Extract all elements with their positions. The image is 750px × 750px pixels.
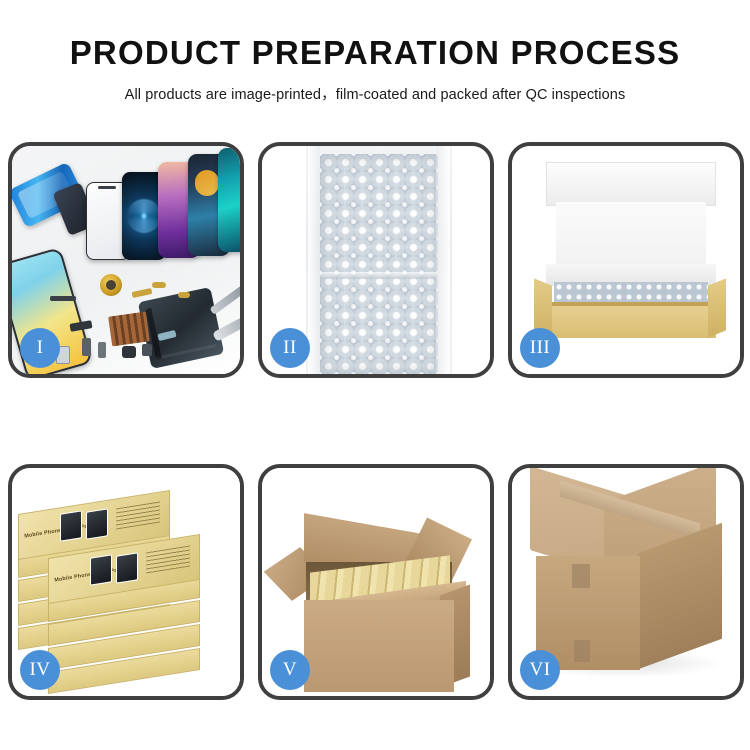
- part-gold-contact: [152, 282, 166, 288]
- step-2-image: II: [262, 146, 490, 374]
- part-camera-module: [122, 346, 136, 358]
- kraft-box-front: [546, 306, 716, 338]
- box-lid-back: [546, 162, 716, 206]
- step-panel-1: I: [8, 142, 244, 378]
- ocean-wallpaper-phone: [218, 148, 240, 252]
- step-badge-1: I: [20, 328, 60, 368]
- part-connector: [50, 296, 76, 301]
- part-button: [82, 338, 91, 356]
- part-gold-flex: [178, 292, 190, 298]
- step-badge-5: V: [270, 650, 310, 690]
- step-badge-3: III: [520, 328, 560, 368]
- step-3-image: III: [512, 146, 740, 374]
- step-badge-4: IV: [20, 650, 60, 690]
- bubble-wrap-texture: [320, 154, 438, 374]
- box-artwork-screen: [90, 554, 112, 585]
- step-badge-6: VI: [520, 650, 560, 690]
- logic-board: [138, 287, 225, 369]
- bubble-wrap-fold: [320, 272, 438, 279]
- tweezers-icon: [209, 285, 240, 315]
- step-panel-2: II: [258, 142, 494, 378]
- step-panel-4: Mobile Phone Spare Parts Mobile Phone Sp…: [8, 464, 244, 700]
- steps-grid: I II II: [8, 142, 742, 700]
- step-5-image: V: [262, 468, 490, 696]
- carton-bottom-tab: [574, 640, 590, 662]
- kraft-box-right-side: [708, 278, 726, 337]
- chip-array: [108, 312, 150, 347]
- page-subtitle: All products are image-printed，film-coat…: [0, 83, 750, 104]
- speaker-coil: [100, 274, 122, 296]
- part-sim-tray: [98, 342, 106, 358]
- step-panel-5: V: [258, 464, 494, 700]
- wrap-left-seam: [308, 146, 320, 374]
- infographic-page: PRODUCT PREPARATION PROCESS All products…: [0, 0, 750, 750]
- step-panel-6: VI: [508, 464, 744, 700]
- box-artwork-screen: [60, 510, 82, 541]
- step-badge-2: II: [270, 328, 310, 368]
- header: PRODUCT PREPARATION PROCESS All products…: [0, 0, 750, 104]
- part-flex-cable: [132, 288, 153, 298]
- box-artwork-screen: [86, 508, 108, 539]
- step-4-image: Mobile Phone Spare Parts Mobile Phone Sp…: [12, 468, 240, 696]
- carton-front-face: [304, 600, 454, 692]
- step-panel-3: III: [508, 142, 744, 378]
- wrap-right-seam: [436, 146, 450, 374]
- step-1-image: I: [12, 146, 240, 374]
- page-title: PRODUCT PREPARATION PROCESS: [0, 36, 750, 71]
- part-speaker: [142, 344, 152, 356]
- box-artwork-screen: [116, 552, 138, 583]
- step-6-image: VI: [512, 468, 740, 696]
- carton-handle-tab: [572, 564, 590, 588]
